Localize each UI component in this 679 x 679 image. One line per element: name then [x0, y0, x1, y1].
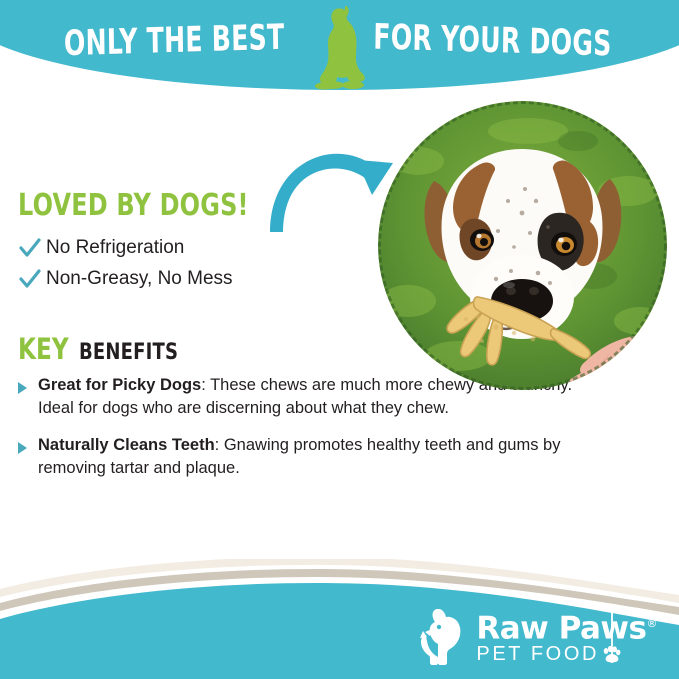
bullet-text: Naturally Cleans Teeth: Gnawing promotes… — [38, 434, 598, 480]
triangle-bullet-icon — [14, 380, 30, 396]
loved-by-dogs-heading: LOVED BY DOGS! — [18, 188, 249, 223]
check-item-label: No Refrigeration — [46, 237, 184, 259]
benefits-check-list: No Refrigeration Non-Greasy, No Mess — [18, 232, 348, 294]
logo-text: Raw Paws® PET FOOD — [476, 609, 657, 665]
check-item-label: Non-Greasy, No Mess — [46, 268, 233, 290]
dog-and-cat-logo-icon — [414, 609, 472, 665]
key-benefits-heading: KEY BENEFITS — [18, 332, 200, 366]
logo-tagline: PET FOOD — [476, 643, 599, 665]
list-item: No Refrigeration — [18, 232, 348, 263]
registered-mark: ® — [647, 617, 658, 630]
checkmark-icon — [18, 237, 42, 259]
dog-photo — [378, 101, 667, 390]
triangle-bullet-icon — [14, 440, 30, 456]
dog-silhouette-icon — [311, 6, 369, 90]
key-benefits-accent: KEY — [18, 332, 69, 366]
dog-photo-image — [378, 101, 667, 390]
list-item: Non-Greasy, No Mess — [18, 263, 348, 294]
curved-arrow-icon — [268, 138, 413, 233]
footer: Raw Paws® PET FOOD — [0, 559, 679, 679]
list-item: Naturally Cleans Teeth: Gnawing promotes… — [14, 434, 614, 480]
bullet-lead: Great for Picky Dogs — [38, 376, 201, 394]
key-benefits-rest: BENEFITS — [79, 340, 178, 365]
paw-print-icon — [602, 646, 621, 663]
logo-name: Raw Paws — [476, 610, 646, 646]
logo-name-line: Raw Paws® — [476, 609, 657, 643]
logo: Raw Paws® PET FOOD — [414, 609, 657, 665]
checkmark-icon — [18, 268, 42, 290]
logo-tagline-line: PET FOOD — [476, 643, 657, 665]
header-banner: ONLY THE BEST FOR YOUR DOGS — [0, 0, 679, 96]
bullet-lead: Naturally Cleans Teeth — [38, 436, 215, 454]
key-benefits-list: Great for Picky Dogs: These chews are mu… — [14, 374, 614, 494]
